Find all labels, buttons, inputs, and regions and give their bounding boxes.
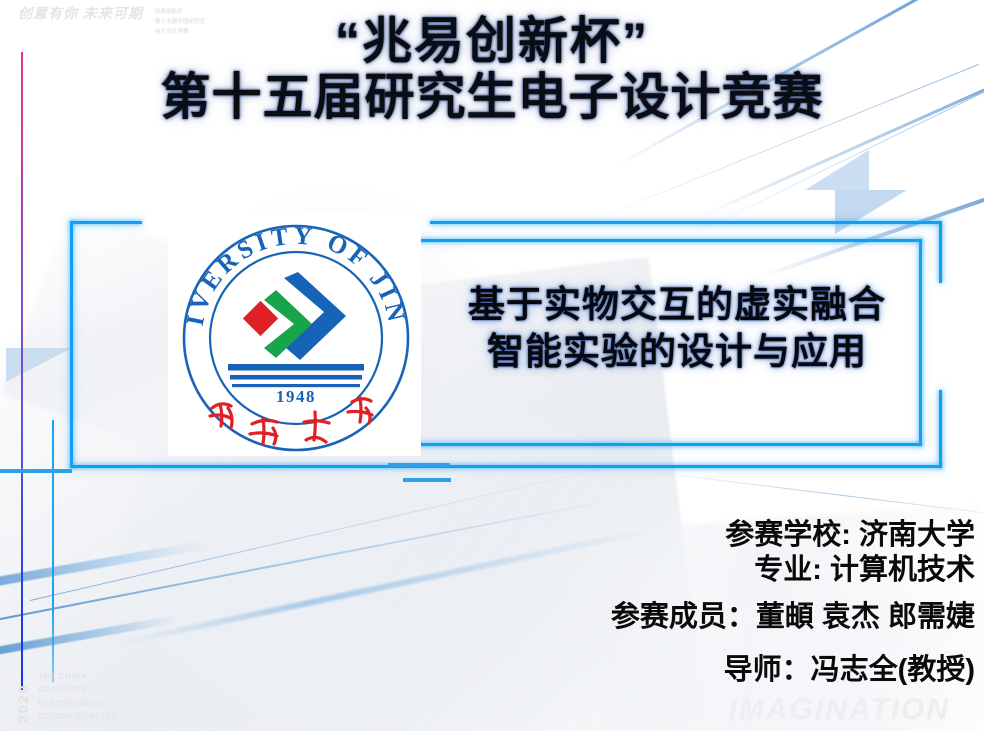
footer-en-line1: THE CHINA [38,670,118,683]
team-info-block: 参赛学校: 济南大学 专业: 计算机技术 参赛成员：董頔 袁杰 郎需婕 导师：冯… [455,518,975,696]
project-subject-line2: 智能实验的设计与应用 [432,328,922,375]
project-subject-line1: 基于实物交互的虚实融合 [432,281,922,328]
logo-dash-right-1 [388,463,450,467]
logo-dash-left [0,469,72,473]
competition-title: “兆易创新杯” 第十五届研究生电子设计竞赛 [0,14,984,127]
triangle-decoration-top-right-2 [835,190,907,234]
frame-outer-top-right [430,221,940,224]
footer-en-line4: DESIGN CONTEST [38,710,118,723]
logo-dash-right-2 [403,478,451,482]
diagonal-streak-top-right-3 [759,164,984,278]
footer-en-line2: GRADUATE [38,683,118,696]
diagonal-streak-bottom-left-1 [0,540,207,589]
info-advisor: 导师：冯志全(教授) [455,645,975,696]
vertical-cyan-rule [52,420,54,682]
triangle-decoration-left [6,348,72,382]
frame-outer-bottom [70,465,942,468]
footer-en-line3: ELECTRONICS [38,697,118,710]
frame-outer-left [70,221,73,468]
frame-outer-right-lower [939,390,942,468]
footer-contest-mark: 2020 THE CHINA GRADUATE ELECTRONICS DESI… [16,670,118,723]
frame-outer-right-upper [939,221,942,283]
triangle-decoration-top-right-1 [805,150,869,190]
footer-contest-name: THE CHINA GRADUATE ELECTRONICS DESIGN CO… [38,670,118,723]
logo-founding-year: 1948 [276,387,316,406]
competition-title-line2: 第十五届研究生电子设计竞赛 [0,68,984,127]
frame-inner-bottom [404,443,922,446]
info-major: 专业: 计算机技术 [455,553,975,588]
diagonal-streak-bottom-right-1 [640,470,984,517]
info-members: 参赛成员：董頔 袁杰 郎需婕 [455,589,975,646]
frame-outer-top-left [70,221,142,224]
diagonal-streak-bottom-left-2 [0,615,178,656]
info-school: 参赛学校: 济南大学 [455,518,975,553]
imagination-watermark: IMAGINATION [729,693,950,727]
frame-inner-top [404,239,922,242]
competition-title-line1: “兆易创新杯” [0,14,984,68]
project-subject-title: 基于实物交互的虚实融合 智能实验的设计与应用 [432,281,922,376]
presentation-title-slide: 创意有你 未来可期 兆易创新杯 第十五届中国研究生 电子设计竞赛 “兆易创新杯”… [0,0,984,731]
university-of-jinan-seal-icon: UNIVERSITY OF JINAN 1948 [176,218,416,458]
university-logo: UNIVERSITY OF JINAN 1948 [176,218,416,458]
footer-year: 2020 [16,684,31,723]
vertical-gradient-rule [21,52,23,690]
